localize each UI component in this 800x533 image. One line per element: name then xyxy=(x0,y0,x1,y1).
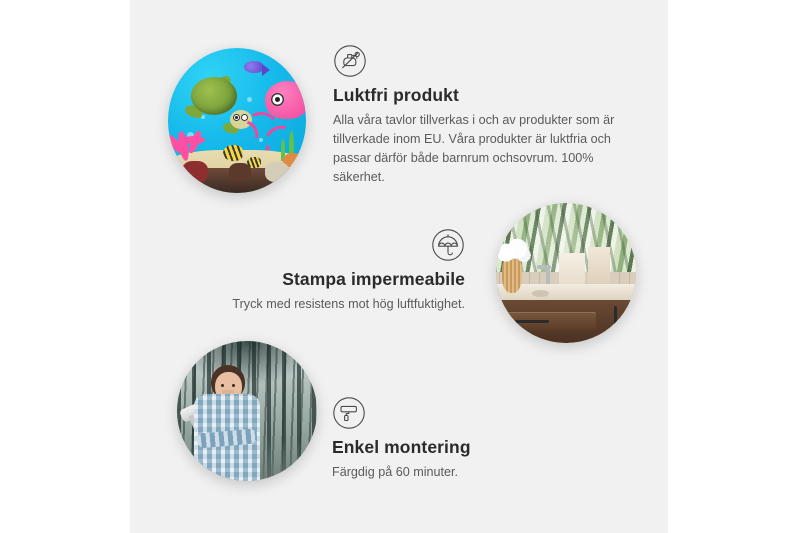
feature-title: Enkel montering xyxy=(332,437,582,458)
feature-image-bathroom xyxy=(496,203,636,343)
fish-purple xyxy=(244,61,263,73)
feature-body: Tryck med resistens mot hög luftfuktighe… xyxy=(200,295,465,314)
feature-block-odourless: Luktfri produkt Alla våra tavlor tillver… xyxy=(333,44,617,188)
bubble-icon xyxy=(247,97,252,102)
feature-body: Alla våra tavlor tillverkas i och av pro… xyxy=(333,111,617,188)
sea-foreground-rocks xyxy=(168,168,306,193)
feature-block-easy-install: Enkel montering Färgdig på 60 minuter. xyxy=(332,396,582,482)
wooden-vanity xyxy=(496,300,636,343)
infographic-root: Luktfri produkt Alla våra tavlor tillver… xyxy=(0,0,800,533)
feature-title: Stampa impermeabile xyxy=(200,269,465,290)
fish-yellow xyxy=(223,145,243,161)
feature-body: Färgdig på 60 minuter. xyxy=(332,463,582,482)
no-odour-icon xyxy=(333,44,367,78)
soap-dish xyxy=(532,290,549,297)
paint-roller-icon xyxy=(332,396,366,430)
feature-block-waterproof: Stampa impermeabile Tryck med resistens … xyxy=(200,228,465,314)
forest-canopy xyxy=(177,341,317,386)
feature-image-underwater xyxy=(168,48,306,193)
coral-branch xyxy=(183,136,205,144)
white-flowers xyxy=(496,237,531,263)
fish-tail xyxy=(262,64,270,76)
vase xyxy=(502,259,522,293)
feature-title: Luktfri produkt xyxy=(333,85,617,106)
umbrella-icon xyxy=(431,228,465,262)
feature-image-installer xyxy=(177,341,317,481)
